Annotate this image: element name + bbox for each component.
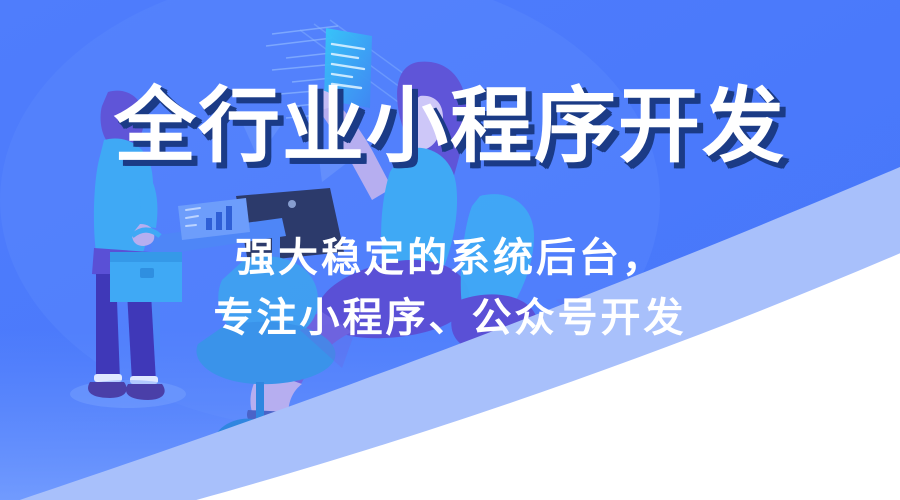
promo-banner: 全行业小程序开发 强大稳定的系统后台， 专注小程序、公众号开发: [0, 0, 900, 500]
background-illustration: [0, 0, 900, 500]
